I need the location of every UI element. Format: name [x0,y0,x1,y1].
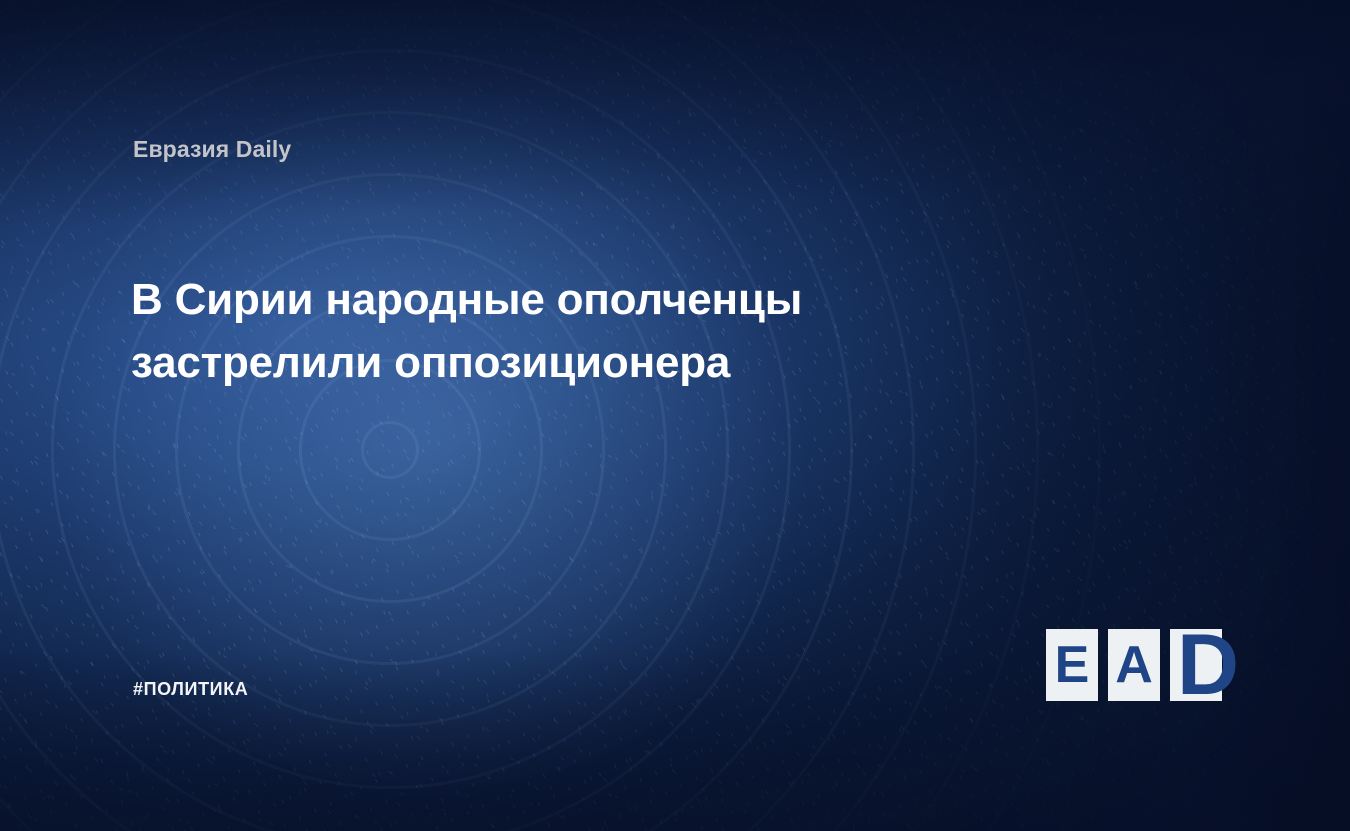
logo-letter-e: E [1046,629,1098,701]
ead-logo: E A D [1046,629,1222,701]
news-share-card: Евразия Daily В Сирии народные ополченцы… [0,0,1350,831]
logo-letter-d: D [1177,623,1237,707]
logo-letter-a: A [1108,629,1160,701]
category-tag: #ПОЛИТИКА [133,679,248,700]
article-headline: В Сирии народные ополченцы застрелили оп… [131,268,1031,394]
card-content: Евразия Daily В Сирии народные ополченцы… [0,0,1350,831]
site-name: Евразия Daily [133,136,291,163]
